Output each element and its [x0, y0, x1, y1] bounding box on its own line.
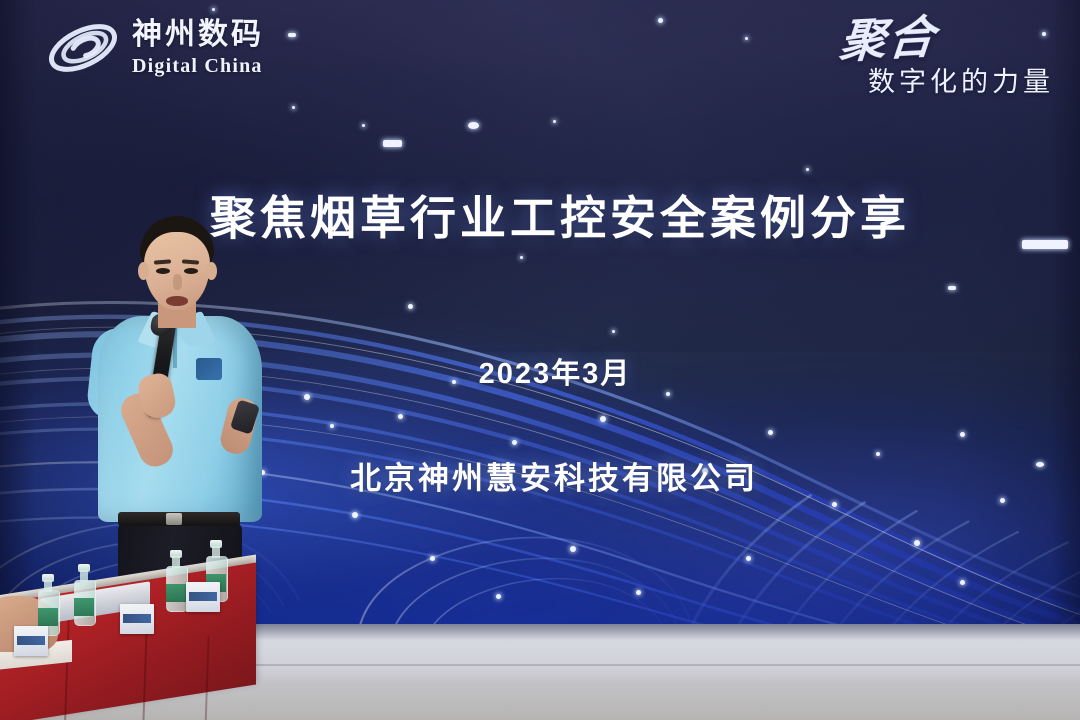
- light-particle: [832, 502, 837, 507]
- chest-logo-icon: [196, 358, 222, 380]
- light-particle: [806, 168, 809, 171]
- light-particle: [745, 37, 748, 40]
- stage-photo: 神州数码 Digital China 聚合 数字化的力量 聚焦烟草行业工控安全案…: [0, 0, 1080, 720]
- speaker-nose: [173, 274, 182, 290]
- light-particle: [612, 330, 615, 333]
- light-particle: [496, 594, 501, 599]
- name-card: [186, 582, 220, 612]
- light-particle: [666, 392, 670, 396]
- light-particle: [960, 432, 965, 437]
- name-card-text-bar: [123, 614, 151, 623]
- brand-wordmark: 神州数码 Digital China: [132, 20, 264, 76]
- slogan-calligraphy: 聚合: [838, 16, 938, 65]
- light-particle: [658, 18, 663, 23]
- light-particle: [768, 430, 773, 435]
- brand-name-cn: 神州数码: [132, 20, 264, 50]
- name-card: [120, 604, 154, 634]
- light-particle: [960, 580, 965, 585]
- speaker-mouth: [166, 296, 188, 306]
- bottle-neck: [172, 556, 180, 568]
- light-particle: [430, 556, 435, 561]
- name-card-text-bar: [189, 592, 217, 601]
- speaker-ear-left: [138, 262, 149, 280]
- speaker-belt-buckle: [166, 513, 182, 525]
- light-particle: [383, 140, 402, 147]
- water-bottle: [166, 566, 186, 612]
- light-particle: [553, 120, 556, 123]
- bottle-neck: [44, 580, 52, 592]
- light-particle: [520, 256, 523, 259]
- event-slogan: 聚合 数字化的力量: [840, 18, 1054, 99]
- bottle-body: [74, 580, 96, 626]
- light-particle: [362, 124, 365, 127]
- bottle-neck: [212, 546, 220, 558]
- light-particle: [352, 512, 358, 518]
- speaker-ear-right: [206, 262, 217, 280]
- screen-left-edge: [0, 0, 36, 628]
- light-particle: [512, 440, 517, 445]
- light-particle: [570, 546, 576, 552]
- water-bottle: [74, 580, 94, 626]
- speaker-eye-left: [156, 268, 170, 274]
- speaker-eye-right: [184, 268, 198, 274]
- light-particle: [288, 33, 296, 37]
- swirl-spiral-logo-icon: [44, 18, 122, 78]
- light-particle: [468, 122, 479, 129]
- bottle-neck: [80, 570, 88, 582]
- name-card: [14, 626, 48, 656]
- light-particle: [1000, 498, 1005, 503]
- light-particle: [914, 540, 920, 546]
- light-particle: [292, 106, 295, 109]
- light-particle: [304, 394, 310, 400]
- light-particle: [636, 590, 641, 595]
- light-particle: [408, 304, 413, 309]
- screen-right-edge: [1050, 0, 1080, 628]
- light-particle: [330, 424, 334, 428]
- light-particle: [398, 414, 403, 419]
- bottle-label: [166, 584, 186, 602]
- name-card-text-bar: [17, 636, 45, 645]
- light-particle: [212, 8, 215, 11]
- bottle-label: [38, 608, 58, 626]
- light-particle: [600, 416, 606, 422]
- brand-logo: 神州数码 Digital China: [44, 18, 264, 78]
- light-particle: [948, 286, 956, 290]
- brand-name-en: Digital China: [132, 56, 264, 76]
- light-particle: [746, 556, 751, 561]
- bottle-label: [74, 598, 94, 616]
- bottle-body: [166, 566, 188, 612]
